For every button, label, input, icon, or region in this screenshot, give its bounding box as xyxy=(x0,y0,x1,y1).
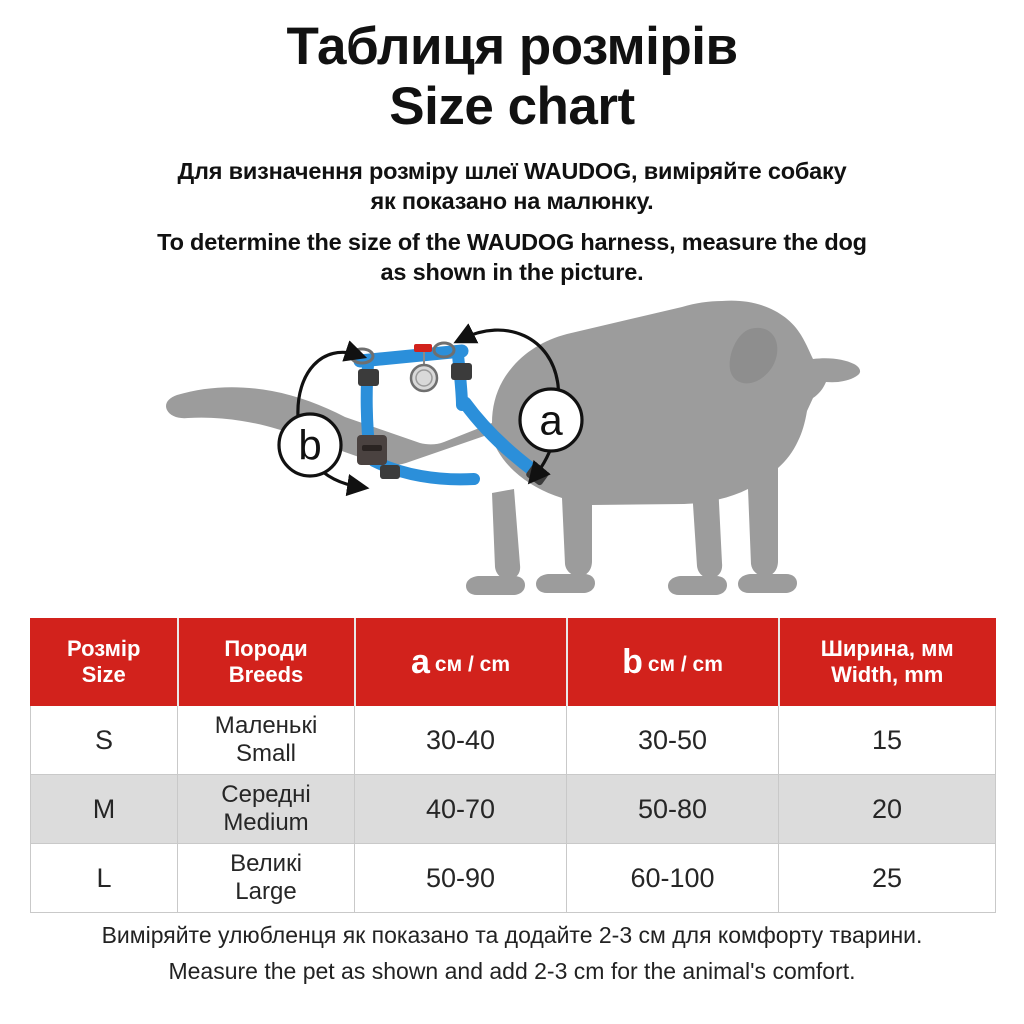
size-table-container: Розмір Size Породи Breeds aсм / cm bсм /… xyxy=(30,618,995,913)
column-header-width-ua: Ширина, мм xyxy=(782,636,994,662)
column-header-a: aсм / cm xyxy=(355,619,567,706)
instruction-ua-line2: як показано на малюнку. xyxy=(0,186,1024,216)
table-row: S Маленькі Small 30-40 30-50 15 xyxy=(31,706,996,775)
page-title-ua: Таблиця розмірів xyxy=(0,18,1024,75)
cell-b: 60-100 xyxy=(567,844,779,913)
column-header-breeds-en: Breeds xyxy=(181,662,352,688)
cell-size: L xyxy=(31,844,178,913)
cell-size: M xyxy=(31,775,178,844)
instructions-block: Для визначення розміру шлеї WAUDOG, вимі… xyxy=(0,156,1024,287)
cell-breed-en: Large xyxy=(180,878,352,906)
footer-note-en: Measure the pet as shown and add 2-3 cm … xyxy=(0,954,1024,990)
cell-width: 25 xyxy=(779,844,996,913)
column-header-a-unit: см / cm xyxy=(435,653,510,676)
column-header-b-symbol: b xyxy=(622,643,643,681)
dog-harness-illustration: a b xyxy=(0,293,1024,603)
cell-breed-ua: Великі xyxy=(180,850,352,878)
column-header-b: bсм / cm xyxy=(567,619,779,706)
cell-a: 50-90 xyxy=(355,844,567,913)
footer-note: Виміряйте улюбленця як показано та додай… xyxy=(0,918,1024,989)
size-chart-page: Таблиця розмірів Size chart Для визначен… xyxy=(0,0,1024,1024)
cell-b: 50-80 xyxy=(567,775,779,844)
cell-breed-ua: Маленькі xyxy=(180,712,352,740)
column-header-size-ua: Розмір xyxy=(33,636,175,662)
cell-a: 40-70 xyxy=(355,775,567,844)
column-header-breeds-ua: Породи xyxy=(181,636,352,662)
table-body: S Маленькі Small 30-40 30-50 15 M Середн… xyxy=(31,706,996,913)
column-header-breeds: Породи Breeds xyxy=(178,619,355,706)
cell-breed-en: Medium xyxy=(180,809,352,837)
cell-b: 30-50 xyxy=(567,706,779,775)
instruction-ua-line1: Для визначення розміру шлеї WAUDOG, вимі… xyxy=(0,156,1024,186)
page-header: Таблиця розмірів Size chart xyxy=(0,0,1024,140)
column-header-width: Ширина, мм Width, mm xyxy=(779,619,996,706)
cell-breed: Великі Large xyxy=(178,844,355,913)
measure-label-b-text: b xyxy=(298,422,321,469)
cell-width: 20 xyxy=(779,775,996,844)
measure-label-b: b xyxy=(279,414,341,476)
page-title-en: Size chart xyxy=(0,75,1024,140)
column-header-size: Розмір Size xyxy=(31,619,178,706)
column-header-width-en: Width, mm xyxy=(782,662,994,688)
cell-size: S xyxy=(31,706,178,775)
column-header-a-symbol: a xyxy=(411,643,430,681)
cell-breed: Середні Medium xyxy=(178,775,355,844)
cell-width: 15 xyxy=(779,706,996,775)
table-header-row: Розмір Size Породи Breeds aсм / cm bсм /… xyxy=(31,619,996,706)
column-header-size-en: Size xyxy=(33,662,175,688)
table-row: L Великі Large 50-90 60-100 25 xyxy=(31,844,996,913)
cell-a: 30-40 xyxy=(355,706,567,775)
footer-note-ua: Виміряйте улюбленця як показано та додай… xyxy=(0,918,1024,954)
table-row: M Середні Medium 40-70 50-80 20 xyxy=(31,775,996,844)
measure-label-a-text: a xyxy=(539,397,563,444)
size-table: Розмір Size Породи Breeds aсм / cm bсм /… xyxy=(30,618,996,913)
cell-breed: Маленькі Small xyxy=(178,706,355,775)
instruction-en-line1: To determine the size of the WAUDOG harn… xyxy=(0,227,1024,257)
dog-diagram-svg: a b xyxy=(162,293,862,603)
instruction-en-line2: as shown in the picture. xyxy=(0,257,1024,287)
column-header-b-unit: см / cm xyxy=(648,653,723,676)
cell-breed-ua: Середні xyxy=(180,781,352,809)
measure-label-a: a xyxy=(520,389,582,451)
cell-breed-en: Small xyxy=(180,740,352,768)
table-header: Розмір Size Породи Breeds aсм / cm bсм /… xyxy=(31,619,996,706)
